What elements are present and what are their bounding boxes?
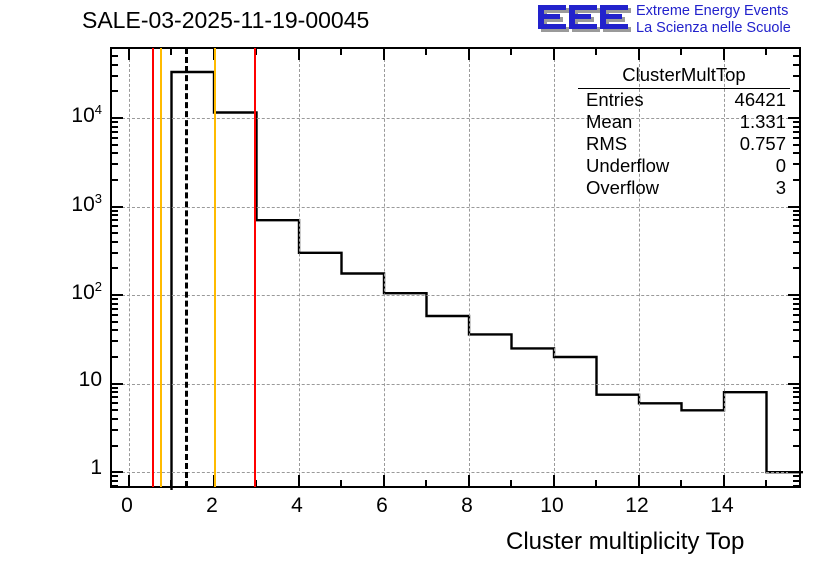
x-axis-tick-major xyxy=(128,475,130,486)
y-axis-tick-minor xyxy=(793,303,799,305)
y-axis-tick-minor xyxy=(112,121,118,123)
x-axis-tick-minor xyxy=(510,49,512,55)
y-axis-tick-minor xyxy=(793,340,799,342)
x-axis-tick-label: 2 xyxy=(192,494,232,518)
y-axis-tick-minor xyxy=(793,137,799,139)
y-axis-tick-minor xyxy=(112,219,118,221)
y-axis-tick-minor xyxy=(112,402,118,404)
y-axis-tick-minor xyxy=(793,314,799,316)
y-axis-tick-label: 103 xyxy=(42,191,102,217)
x-axis-tick-major xyxy=(298,475,300,486)
y-axis-tick-minor xyxy=(112,144,118,146)
x-axis-tick-minor xyxy=(680,49,682,55)
y-axis-tick-minor xyxy=(112,298,118,300)
y-axis-tick-minor xyxy=(793,210,799,212)
x-axis-tick-minor xyxy=(510,480,512,486)
x-axis-tick-major xyxy=(638,475,640,486)
stats-row-value: 1.331 xyxy=(740,111,786,133)
x-axis-tick-minor xyxy=(680,480,682,486)
x-axis-tick-major xyxy=(553,475,555,486)
x-axis-tick-minor xyxy=(340,480,342,486)
y-axis-tick-minor xyxy=(112,90,118,92)
stats-box: ClusterMultTop Entries46421Mean1.331RMS0… xyxy=(578,63,790,199)
x-axis-tick-label: 6 xyxy=(362,494,402,518)
stats-row-value: 46421 xyxy=(735,89,786,111)
y-axis-tick-minor xyxy=(793,329,799,331)
y-axis-tick-minor xyxy=(112,252,118,254)
x-axis-tick-minor xyxy=(765,480,767,486)
x-axis-tick-label: 14 xyxy=(702,494,742,518)
x-axis-tick-major xyxy=(553,49,555,60)
y-axis-tick-minor xyxy=(112,329,118,331)
y-axis-tick-minor xyxy=(112,321,118,323)
x-axis-title: Cluster multiplicity Top xyxy=(506,528,744,556)
y-axis-tick-minor xyxy=(793,90,799,92)
y-axis-tick-minor xyxy=(793,252,799,254)
x-axis-tick-label: 8 xyxy=(447,494,487,518)
y-axis-tick-minor xyxy=(112,340,118,342)
grid-line-vertical xyxy=(384,49,385,486)
y-axis-tick-major xyxy=(112,383,123,385)
marker-line-orange-line-low xyxy=(160,48,162,487)
stats-row-key: RMS xyxy=(586,133,627,155)
y-axis-tick-minor xyxy=(112,179,118,181)
x-axis-tick-major xyxy=(638,49,640,60)
y-axis-tick-minor xyxy=(112,64,118,66)
y-axis-tick-minor xyxy=(793,418,799,420)
x-axis-tick-label: 0 xyxy=(107,494,147,518)
eee-letters-icon xyxy=(536,2,632,36)
y-axis-tick-minor xyxy=(793,232,799,234)
y-axis-tick-minor xyxy=(112,409,118,411)
x-axis-tick-label: 10 xyxy=(532,494,572,518)
y-axis-tick-minor xyxy=(793,163,799,165)
y-axis-tick-major xyxy=(112,294,123,296)
y-axis-tick-minor xyxy=(112,214,118,216)
y-axis-tick-minor xyxy=(112,55,118,57)
y-axis-tick-minor xyxy=(112,126,118,128)
y-axis-tick-minor xyxy=(793,308,799,310)
x-axis-tick-minor xyxy=(340,49,342,55)
y-axis-tick-label: 10 xyxy=(42,368,102,392)
x-axis-tick-minor xyxy=(170,49,172,55)
y-axis-tick-minor xyxy=(793,321,799,323)
y-axis-tick-minor xyxy=(793,55,799,57)
y-axis-tick-minor xyxy=(793,121,799,123)
stats-row-key: Mean xyxy=(586,111,632,133)
stats-row-value: 0.757 xyxy=(740,133,786,155)
y-axis-tick-minor xyxy=(793,144,799,146)
y-axis-tick-minor xyxy=(112,480,118,482)
y-axis-tick-label: 104 xyxy=(42,102,102,128)
y-axis-tick-minor xyxy=(112,225,118,227)
y-axis-tick-minor xyxy=(793,179,799,181)
y-axis-tick-minor xyxy=(793,241,799,243)
marker-line-red-line-low xyxy=(152,48,154,487)
x-axis-tick-minor xyxy=(595,49,597,55)
y-axis-tick-minor xyxy=(793,396,799,398)
stats-row-value: 3 xyxy=(776,177,786,199)
y-axis-tick-minor xyxy=(793,429,799,431)
eee-logo-line2: La Scienza nelle Scuole xyxy=(636,20,791,37)
y-axis-tick-minor xyxy=(112,429,118,431)
y-axis-tick-minor xyxy=(112,137,118,139)
y-axis-tick-minor xyxy=(793,75,799,77)
y-axis-tick-minor xyxy=(112,418,118,420)
y-axis-tick-minor xyxy=(112,241,118,243)
y-axis-tick-major xyxy=(112,471,123,473)
y-axis-tick-major xyxy=(112,206,123,208)
y-axis-tick-minor xyxy=(112,131,118,133)
y-axis-tick-minor xyxy=(112,387,118,389)
x-axis-tick-minor xyxy=(595,480,597,486)
y-axis-tick-minor xyxy=(793,475,799,477)
y-axis-tick-minor xyxy=(793,225,799,227)
y-axis-tick-minor xyxy=(793,219,799,221)
y-axis-tick-label: 1 xyxy=(42,456,102,480)
stats-row: Mean1.331 xyxy=(578,111,790,133)
y-axis-tick-minor xyxy=(793,445,799,447)
y-axis-tick-major xyxy=(788,294,799,296)
x-axis-tick-major xyxy=(468,475,470,486)
y-axis-tick-minor xyxy=(112,163,118,165)
grid-line-vertical xyxy=(299,49,300,486)
y-axis-tick-minor xyxy=(112,391,118,393)
y-axis-tick-minor xyxy=(112,356,118,358)
y-axis-tick-minor xyxy=(112,303,118,305)
stats-row: RMS0.757 xyxy=(578,133,790,155)
y-axis-tick-minor xyxy=(112,314,118,316)
y-axis-tick-minor xyxy=(793,152,799,154)
y-axis-tick-minor xyxy=(112,75,118,77)
marker-line-orange-line-high xyxy=(214,48,216,487)
y-axis-tick-minor xyxy=(793,485,799,487)
y-axis-tick-minor xyxy=(112,485,118,487)
x-axis-tick-major xyxy=(468,49,470,60)
y-axis-tick-minor xyxy=(112,210,118,212)
grid-line-vertical xyxy=(129,49,130,486)
x-axis-tick-minor xyxy=(170,480,172,486)
root-canvas: SALE-03-2025-11-19-00045 xyxy=(0,0,836,572)
y-axis-tick-major xyxy=(788,471,799,473)
x-axis-tick-minor xyxy=(425,49,427,55)
y-axis-tick-minor xyxy=(793,131,799,133)
grid-line-vertical xyxy=(554,49,555,486)
grid-line-vertical xyxy=(469,49,470,486)
x-axis-tick-major xyxy=(298,49,300,60)
stats-row: Overflow3 xyxy=(578,177,790,199)
eee-logo-line1: Extreme Energy Events xyxy=(636,3,791,20)
marker-line-red-line-high xyxy=(254,48,256,487)
stats-row-value: 0 xyxy=(776,155,786,177)
y-axis-tick-minor xyxy=(112,152,118,154)
y-axis-tick-label: 102 xyxy=(42,279,102,305)
x-axis-tick-major xyxy=(128,49,130,60)
y-axis-tick-minor xyxy=(112,267,118,269)
y-axis-tick-minor xyxy=(793,356,799,358)
x-axis-tick-major xyxy=(723,475,725,486)
y-axis-tick-minor xyxy=(112,232,118,234)
y-axis-tick-minor xyxy=(793,267,799,269)
stats-row: Underflow0 xyxy=(578,155,790,177)
y-axis-tick-major xyxy=(112,117,123,119)
y-axis-tick-minor xyxy=(793,480,799,482)
stats-row-key: Underflow xyxy=(586,155,669,177)
y-axis-tick-minor xyxy=(793,298,799,300)
stats-rows: Entries46421Mean1.331RMS0.757Underflow0O… xyxy=(578,89,790,199)
y-axis-tick-minor xyxy=(793,402,799,404)
y-axis-tick-minor xyxy=(112,445,118,447)
y-axis-tick-minor xyxy=(793,214,799,216)
y-axis-tick-minor xyxy=(793,409,799,411)
y-axis-tick-minor xyxy=(793,391,799,393)
x-axis-tick-major xyxy=(383,475,385,486)
y-axis-tick-major xyxy=(788,206,799,208)
x-axis-tick-minor xyxy=(425,480,427,486)
x-axis-tick-major xyxy=(383,49,385,60)
stats-row-key: Entries xyxy=(586,89,644,111)
stats-row-key: Overflow xyxy=(586,177,659,199)
y-axis-tick-minor xyxy=(112,308,118,310)
page-title: SALE-03-2025-11-19-00045 xyxy=(82,7,369,34)
y-axis-tick-minor xyxy=(793,387,799,389)
y-axis-tick-minor xyxy=(112,475,118,477)
x-axis-tick-minor xyxy=(765,49,767,55)
y-axis-tick-major xyxy=(788,383,799,385)
stats-title: ClusterMultTop xyxy=(578,63,790,89)
stats-row: Entries46421 xyxy=(578,89,790,111)
y-axis-tick-minor xyxy=(793,126,799,128)
x-axis-tick-label: 12 xyxy=(617,494,657,518)
eee-logo: Extreme Energy Events La Scienza nelle S… xyxy=(536,2,834,38)
x-axis-tick-major xyxy=(723,49,725,60)
eee-logo-text: Extreme Energy Events La Scienza nelle S… xyxy=(636,3,791,36)
y-axis-tick-minor xyxy=(112,396,118,398)
y-axis-tick-minor xyxy=(793,64,799,66)
marker-line-black-dashed-mean xyxy=(185,48,188,487)
x-axis-tick-label: 4 xyxy=(277,494,317,518)
